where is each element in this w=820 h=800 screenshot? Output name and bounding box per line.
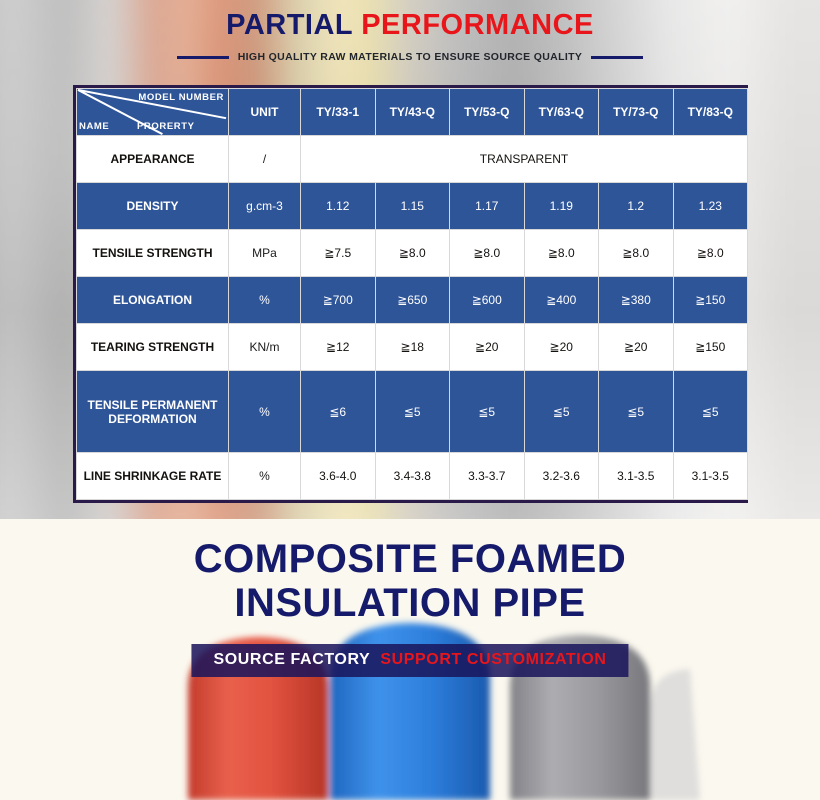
product-heading: COMPOSITE FOAMED INSULATION PIPE	[0, 537, 820, 625]
cell-deformation-3: ≦5	[450, 371, 525, 453]
cell-density-6: 1.23	[673, 183, 748, 230]
promo-badge-support-customization: SUPPORT CUSTOMIZATION	[380, 651, 606, 668]
cell-deformation-2: ≦5	[375, 371, 450, 453]
cell-density-1: 1.12	[301, 183, 376, 230]
table-row: APPEARANCE / TRANSPARENT	[77, 136, 748, 183]
row-label-tensile-strength: TENSILE STRENGTH	[77, 230, 229, 277]
product-heading-line-1: COMPOSITE FOAMED	[0, 537, 820, 581]
subtitle-rule-left	[177, 56, 229, 59]
cell-density-3: 1.17	[450, 183, 525, 230]
page-title-part-primary: PARTIAL	[226, 9, 361, 41]
cell-shrinkage-5: 3.1-3.5	[599, 452, 674, 499]
cell-tensile-strength-2: ≧8.0	[375, 230, 450, 277]
column-header-model-3: TY/53-Q	[450, 89, 525, 136]
cell-tensile-strength-6: ≧8.0	[673, 230, 748, 277]
cell-shrinkage-6: 3.1-3.5	[673, 452, 748, 499]
row-label-tearing-strength: TEARING STRENGTH	[77, 324, 229, 371]
row-unit-appearance: /	[229, 136, 301, 183]
column-header-unit: UNIT	[229, 89, 301, 136]
cell-tearing-strength-4: ≧20	[524, 324, 599, 371]
promo-badge-source-factory: SOURCE FACTORY	[213, 651, 370, 668]
spec-table-section: PARTIAL PERFORMANCE HIGH QUALITY RAW MAT…	[0, 0, 820, 519]
cell-tearing-strength-6: ≧150	[673, 324, 748, 371]
corner-label-model-number: MODEL NUMBER	[138, 92, 224, 103]
corner-label-name: NAME	[79, 121, 109, 132]
cell-deformation-5: ≦5	[599, 371, 674, 453]
cell-tearing-strength-5: ≧20	[599, 324, 674, 371]
corner-label-prorerty: PRORERTY	[137, 121, 195, 132]
cell-elongation-4: ≧400	[524, 277, 599, 324]
cell-deformation-4: ≦5	[524, 371, 599, 453]
specification-table-container: MODEL NUMBER PRORERTY NAME UNIT TY/33-1 …	[73, 85, 748, 503]
row-label-density: DENSITY	[77, 183, 229, 230]
column-header-model-5: TY/73-Q	[599, 89, 674, 136]
cell-shrinkage-2: 3.4-3.8	[375, 452, 450, 499]
subtitle-row: HIGH QUALITY RAW MATERIALS TO ENSURE SOU…	[0, 51, 820, 63]
table-row: TEARING STRENGTH KN/m ≧12 ≧18 ≧20 ≧20 ≧2…	[77, 324, 748, 371]
row-unit-density: g.cm-3	[229, 183, 301, 230]
cell-elongation-3: ≧600	[450, 277, 525, 324]
table-row: TENSILE STRENGTH MPa ≧7.5 ≧8.0 ≧8.0 ≧8.0…	[77, 230, 748, 277]
row-unit-tensile-permanent-deformation: %	[229, 371, 301, 453]
column-header-model-1: TY/33-1	[301, 89, 376, 136]
header-block: PARTIAL PERFORMANCE HIGH QUALITY RAW MAT…	[0, 8, 820, 63]
row-label-tensile-permanent-deformation: TENSILE PERMANENT DEFORMATION	[77, 371, 229, 453]
cell-tensile-strength-1: ≧7.5	[301, 230, 376, 277]
column-header-model-6: TY/83-Q	[673, 89, 748, 136]
row-unit-line-shrinkage-rate: %	[229, 452, 301, 499]
cell-shrinkage-1: 3.6-4.0	[301, 452, 376, 499]
table-row: TENSILE PERMANENT DEFORMATION % ≦6 ≦5 ≦5…	[77, 371, 748, 453]
promo-badge: SOURCE FACTORYSUPPORT CUSTOMIZATION	[191, 644, 628, 677]
cell-elongation-1: ≧700	[301, 277, 376, 324]
row-unit-tearing-strength: KN/m	[229, 324, 301, 371]
table-row: DENSITY g.cm-3 1.12 1.15 1.17 1.19 1.2 1…	[77, 183, 748, 230]
table-header-row: MODEL NUMBER PRORERTY NAME UNIT TY/33-1 …	[77, 89, 748, 136]
cell-shrinkage-3: 3.3-3.7	[450, 452, 525, 499]
page-subtitle: HIGH QUALITY RAW MATERIALS TO ENSURE SOU…	[238, 51, 583, 63]
row-unit-elongation: %	[229, 277, 301, 324]
product-heading-line-2: INSULATION PIPE	[0, 581, 820, 625]
table-row: LINE SHRINKAGE RATE % 3.6-4.0 3.4-3.8 3.…	[77, 452, 748, 499]
cell-tensile-strength-3: ≧8.0	[450, 230, 525, 277]
cell-elongation-2: ≧650	[375, 277, 450, 324]
row-unit-tensile-strength: MPa	[229, 230, 301, 277]
cell-elongation-5: ≧380	[599, 277, 674, 324]
product-banner-section: COMPOSITE FOAMED INSULATION PIPE SOURCE …	[0, 519, 820, 800]
cell-tensile-strength-4: ≧8.0	[524, 230, 599, 277]
table-row: ELONGATION % ≧700 ≧650 ≧600 ≧400 ≧380 ≧1…	[77, 277, 748, 324]
cell-tearing-strength-3: ≧20	[450, 324, 525, 371]
cell-tensile-strength-5: ≧8.0	[599, 230, 674, 277]
row-value-appearance-merged: TRANSPARENT	[301, 136, 748, 183]
page-title: PARTIAL PERFORMANCE	[0, 8, 820, 42]
cell-tearing-strength-2: ≧18	[375, 324, 450, 371]
cell-density-4: 1.19	[524, 183, 599, 230]
cell-deformation-1: ≦6	[301, 371, 376, 453]
cell-deformation-6: ≦5	[673, 371, 748, 453]
cell-elongation-6: ≧150	[673, 277, 748, 324]
row-label-elongation: ELONGATION	[77, 277, 229, 324]
row-label-line-shrinkage-rate: LINE SHRINKAGE RATE	[77, 452, 229, 499]
cell-density-5: 1.2	[599, 183, 674, 230]
row-label-appearance: APPEARANCE	[77, 136, 229, 183]
cell-shrinkage-4: 3.2-3.6	[524, 452, 599, 499]
cell-density-2: 1.15	[375, 183, 450, 230]
column-header-model-2: TY/43-Q	[375, 89, 450, 136]
column-header-model-4: TY/63-Q	[524, 89, 599, 136]
page-title-part-accent: PERFORMANCE	[361, 9, 594, 41]
corner-diagonal-header-cell: MODEL NUMBER PRORERTY NAME	[77, 89, 229, 136]
cell-tearing-strength-1: ≧12	[301, 324, 376, 371]
specification-table: MODEL NUMBER PRORERTY NAME UNIT TY/33-1 …	[76, 88, 748, 500]
subtitle-rule-right	[591, 56, 643, 59]
